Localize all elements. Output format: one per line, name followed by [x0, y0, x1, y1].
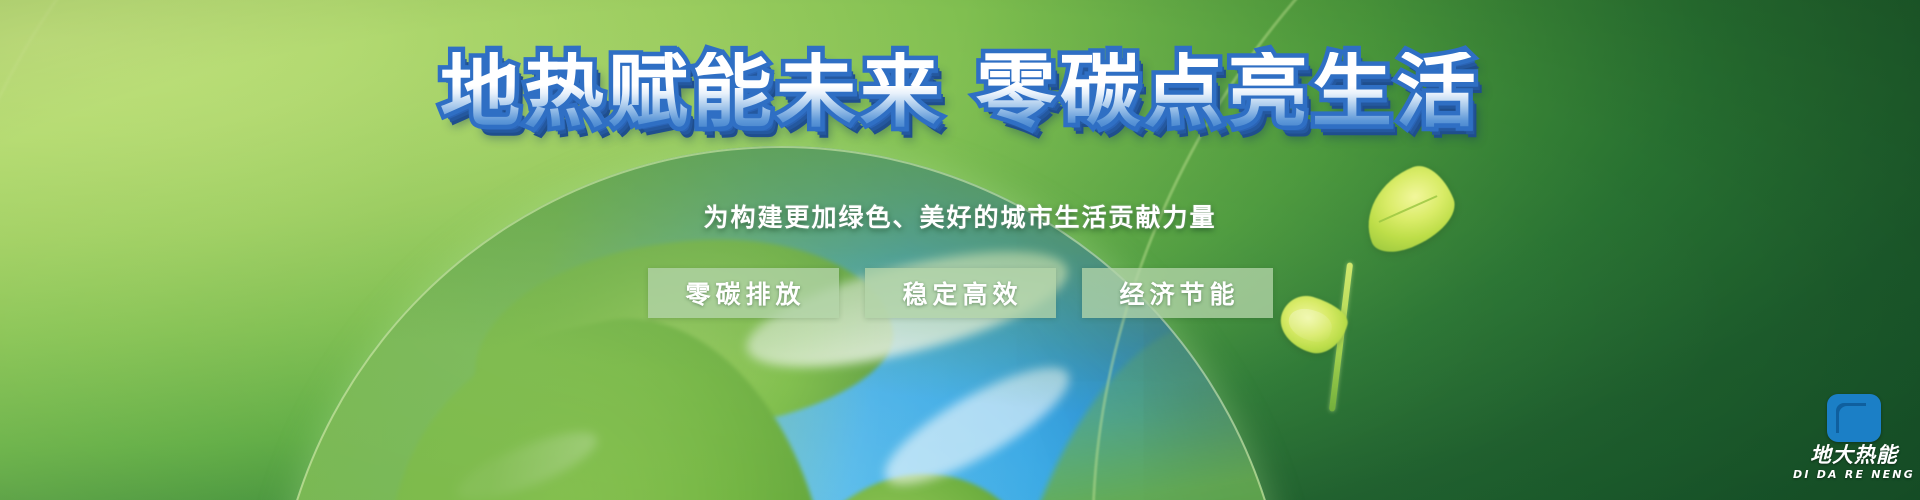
page-title-text: 地热赋能未来 零碳点亮生活	[440, 52, 1480, 132]
logo-chinese-name: 地大热能	[1810, 445, 1898, 466]
badge-zero-carbon[interactable]: 零碳排放	[648, 268, 839, 318]
logo-pinyin-name: DI DA RE NENG	[1793, 469, 1915, 480]
feature-badge-group: 零碳排放 稳定高效 经济节能	[0, 268, 1920, 318]
company-logo[interactable]: 地大热能 DI DA RE NENG	[1793, 394, 1915, 498]
logo-notch	[1836, 403, 1866, 433]
badge-economic-saving[interactable]: 经济节能	[1082, 268, 1273, 318]
promo-banner: 地热赋能未来 零碳点亮生活 地热赋能未来 零碳点亮生活 为构建更加绿色、美好的城…	[0, 0, 1920, 500]
page-subtitle: 为构建更加绿色、美好的城市生活贡献力量	[0, 198, 1920, 234]
didareneng-logo-mark-icon	[1827, 394, 1881, 442]
badge-stable-efficient[interactable]: 稳定高效	[865, 268, 1056, 318]
